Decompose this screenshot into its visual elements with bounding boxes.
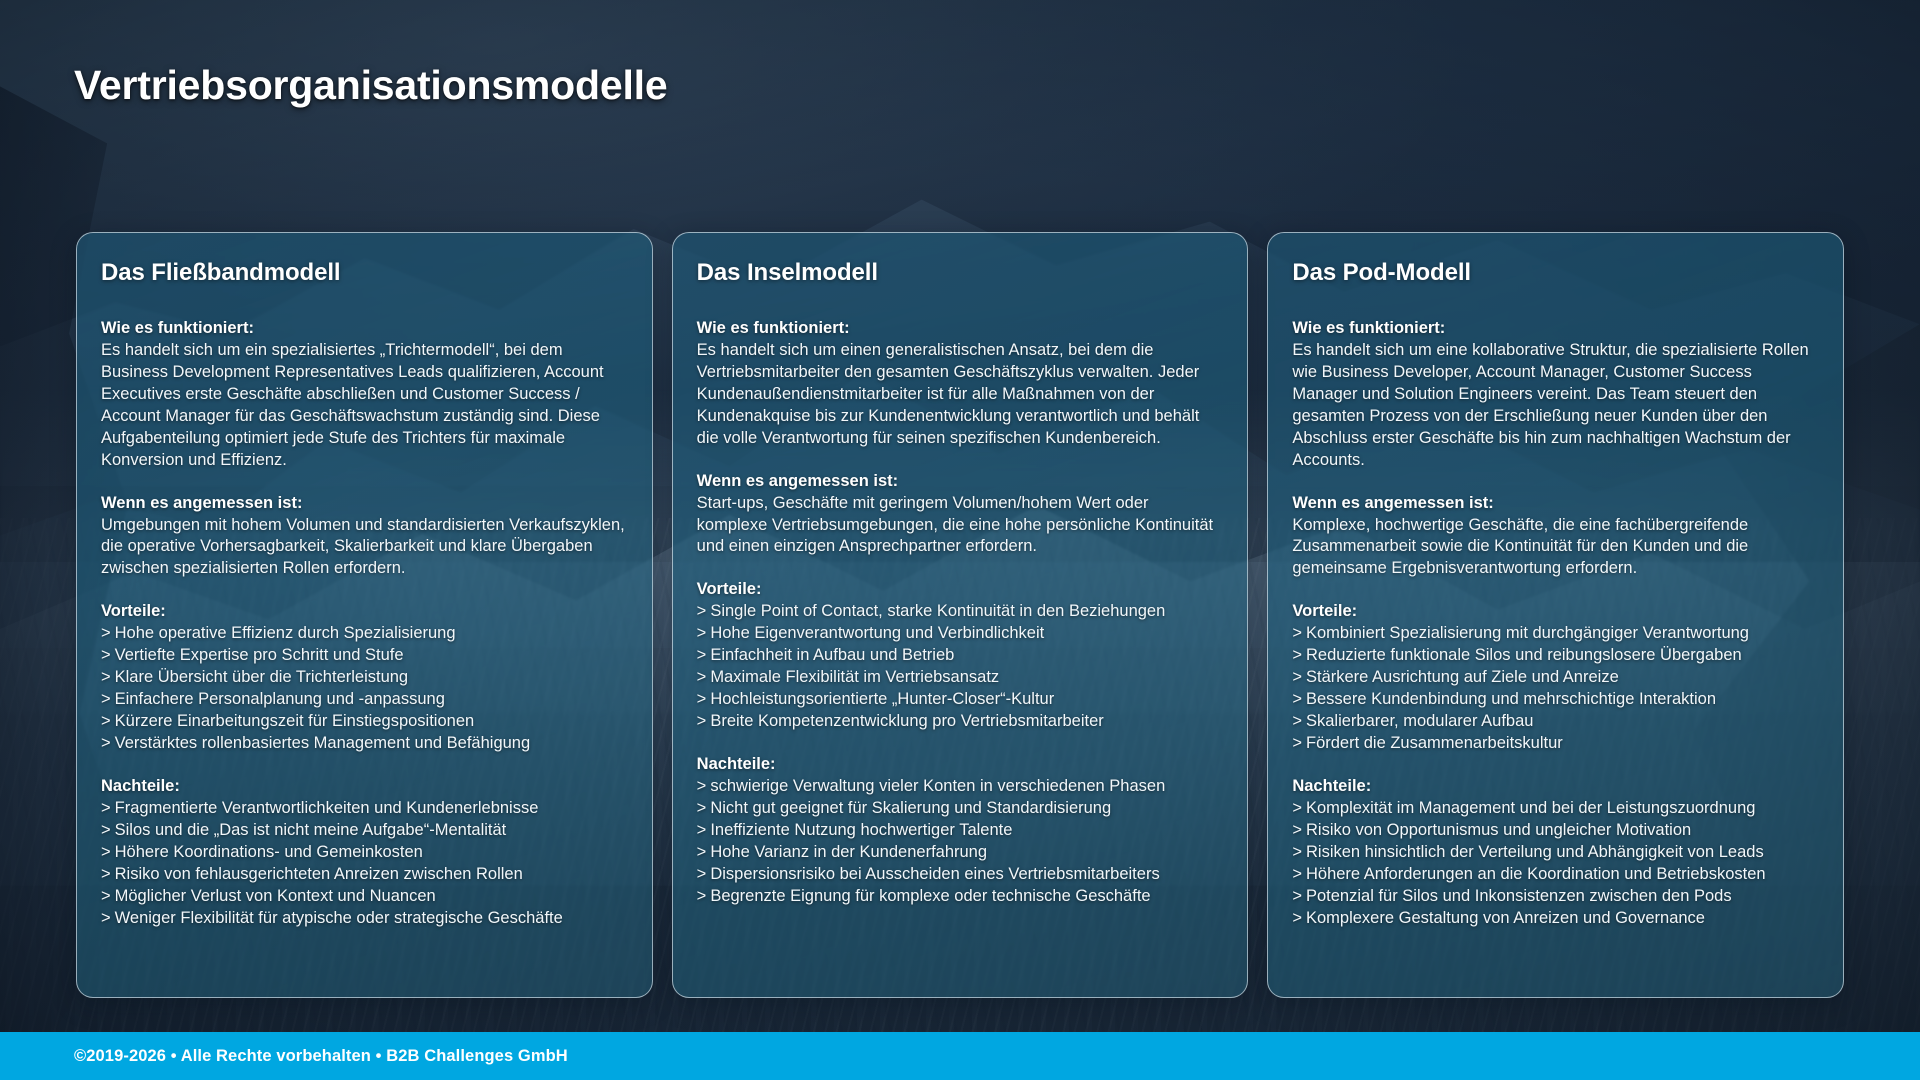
list-item-label: Hohe Eigenverantwortung und Verbindlichk… — [710, 624, 1044, 642]
list-item: >Bessere Kundenbindung und mehrschichtig… — [1292, 689, 1819, 711]
list-item-label: Einfachheit in Aufbau und Betrieb — [710, 646, 954, 664]
list-item-label: Risiko von fehlausgerichteten Anreizen z… — [115, 865, 523, 883]
list-item: >Kombiniert Spezialisierung mit durchgän… — [1292, 623, 1819, 645]
bullet-marker-icon: > — [101, 798, 111, 820]
slide-root: Vertriebsorganisationsmodelle Das Fließb… — [0, 0, 1920, 1080]
list-item: >Klare Übersicht über die Trichterleistu… — [101, 667, 628, 689]
card-section-pros: Vorteile: >Kombiniert Spezialisierung mi… — [1292, 601, 1819, 755]
card-section-when: Wenn es angemessen ist: Komplexe, hochwe… — [1292, 493, 1819, 581]
list-item-label: Hohe Varianz in der Kundenerfahrung — [710, 843, 987, 861]
bullet-marker-icon: > — [101, 886, 111, 908]
list-item-label: Höhere Koordinations- und Gemeinkosten — [115, 843, 423, 861]
footer-copyright: ©2019-2026 • Alle Rechte vorbehalten • B… — [74, 1047, 568, 1066]
card-section-pros: Vorteile: >Hohe operative Effizienz durc… — [101, 601, 628, 755]
cons-list: >schwierige Verwaltung vieler Konten in … — [697, 776, 1224, 908]
card-section-cons: Nachteile: >Fragmentierte Verantwortlich… — [101, 776, 628, 930]
card-section-when: Wenn es angemessen ist: Umgebungen mit h… — [101, 493, 628, 581]
bullet-marker-icon: > — [1292, 733, 1302, 755]
list-item: >Breite Kompetenzentwicklung pro Vertrie… — [697, 711, 1224, 733]
bullet-marker-icon: > — [697, 689, 707, 711]
list-item: >Risiko von fehlausgerichteten Anreizen … — [101, 864, 628, 886]
bullet-marker-icon: > — [101, 908, 111, 930]
section-label-when: Wenn es angemessen ist: — [697, 471, 1224, 493]
section-label-pros: Vorteile: — [697, 579, 1224, 601]
model-cards-container: Das Fließbandmodell Wie es funktioniert:… — [76, 232, 1844, 998]
section-text-how: Es handelt sich um einen generalistische… — [697, 340, 1224, 450]
list-item: >Stärkere Ausrichtung auf Ziele und Anre… — [1292, 667, 1819, 689]
card-section-cons: Nachteile: >Komplexität im Management un… — [1292, 776, 1819, 930]
card-section-cons: Nachteile: >schwierige Verwaltung vieler… — [697, 754, 1224, 908]
list-item: >Hohe operative Effizienz durch Speziali… — [101, 623, 628, 645]
bullet-marker-icon: > — [101, 667, 111, 689]
section-text-how: Es handelt sich um eine kollaborative St… — [1292, 340, 1819, 472]
list-item: >Verstärktes rollenbasiertes Management … — [101, 733, 628, 755]
list-item-label: Fragmentierte Verantwortlichkeiten und K… — [115, 799, 539, 817]
list-item: >schwierige Verwaltung vieler Konten in … — [697, 776, 1224, 798]
list-item-label: Bessere Kundenbindung und mehrschichtige… — [1306, 690, 1716, 708]
list-item: >Risiko von Opportunismus und ungleicher… — [1292, 820, 1819, 842]
list-item-label: schwierige Verwaltung vieler Konten in v… — [710, 777, 1165, 795]
list-item: >Nicht gut geeignet für Skalierung und S… — [697, 798, 1224, 820]
section-label-when: Wenn es angemessen ist: — [1292, 493, 1819, 515]
bullet-marker-icon: > — [697, 601, 707, 623]
cons-list: >Fragmentierte Verantwortlichkeiten und … — [101, 798, 628, 930]
bullet-marker-icon: > — [697, 776, 707, 798]
bullet-marker-icon: > — [101, 689, 111, 711]
list-item-label: Potenzial für Silos und Inkonsistenzen z… — [1306, 887, 1732, 905]
list-item-label: Reduzierte funktionale Silos und reibung… — [1306, 646, 1742, 664]
list-item-label: Verstärktes rollenbasiertes Management u… — [115, 734, 531, 752]
section-label-how: Wie es funktioniert: — [1292, 318, 1819, 340]
list-item-label: Kürzere Einarbeitungszeit für Einstiegsp… — [115, 712, 475, 730]
list-item-label: Nicht gut geeignet für Skalierung und St… — [710, 799, 1111, 817]
section-label-cons: Nachteile: — [101, 776, 628, 798]
list-item: >Höhere Anforderungen an die Koordinatio… — [1292, 864, 1819, 886]
section-text-when: Komplexe, hochwertige Geschäfte, die ein… — [1292, 515, 1819, 581]
list-item: >Fördert die Zusammenarbeitskultur — [1292, 733, 1819, 755]
bullet-marker-icon: > — [101, 820, 111, 842]
list-item-label: Vertiefte Expertise pro Schritt und Stuf… — [115, 646, 404, 664]
list-item-label: Hochleistungsorientierte „Hunter-Closer“… — [710, 690, 1054, 708]
section-text-when: Start-ups, Geschäfte mit geringem Volume… — [697, 493, 1224, 559]
card-pod-modell: Das Pod-Modell Wie es funktioniert: Es h… — [1267, 232, 1844, 998]
bullet-marker-icon: > — [101, 733, 111, 755]
card-title: Das Inselmodell — [697, 259, 1224, 287]
page-title: Vertriebsorganisationsmodelle — [74, 62, 667, 109]
list-item: >Potenzial für Silos und Inkonsistenzen … — [1292, 886, 1819, 908]
bullet-marker-icon: > — [697, 667, 707, 689]
bullet-marker-icon: > — [1292, 886, 1302, 908]
list-item: >Dispersionsrisiko bei Ausscheiden eines… — [697, 864, 1224, 886]
list-item-label: Ineffiziente Nutzung hochwertiger Talent… — [710, 821, 1012, 839]
list-item: >Hohe Eigenverantwortung und Verbindlich… — [697, 623, 1224, 645]
list-item-label: Begrenzte Eignung für komplexe oder tech… — [710, 887, 1150, 905]
bullet-marker-icon: > — [1292, 864, 1302, 886]
card-section-how: Wie es funktioniert: Es handelt sich um … — [1292, 318, 1819, 472]
cons-list: >Komplexität im Management und bei der L… — [1292, 798, 1819, 930]
bullet-marker-icon: > — [697, 711, 707, 733]
list-item-label: Silos und die „Das ist nicht meine Aufga… — [115, 821, 507, 839]
pros-list: >Single Point of Contact, starke Kontinu… — [697, 601, 1224, 733]
section-label-cons: Nachteile: — [697, 754, 1224, 776]
list-item: >Höhere Koordinations- und Gemeinkosten — [101, 842, 628, 864]
card-fliessbandmodell: Das Fließbandmodell Wie es funktioniert:… — [76, 232, 653, 998]
card-section-how: Wie es funktioniert: Es handelt sich um … — [697, 318, 1224, 450]
list-item-label: Risiko von Opportunismus und ungleicher … — [1306, 821, 1691, 839]
bullet-marker-icon: > — [101, 864, 111, 886]
bullet-marker-icon: > — [697, 798, 707, 820]
list-item-label: Komplexere Gestaltung von Anreizen und G… — [1306, 909, 1705, 927]
list-item-label: Fördert die Zusammenarbeitskultur — [1306, 734, 1563, 752]
bullet-marker-icon: > — [101, 623, 111, 645]
bullet-marker-icon: > — [1292, 842, 1302, 864]
footer-bar: ©2019-2026 • Alle Rechte vorbehalten • B… — [0, 1032, 1920, 1080]
list-item-label: Dispersionsrisiko bei Ausscheiden eines … — [710, 865, 1159, 883]
pros-list: >Kombiniert Spezialisierung mit durchgän… — [1292, 623, 1819, 755]
list-item: >Möglicher Verlust von Kontext und Nuanc… — [101, 886, 628, 908]
card-inselmodell: Das Inselmodell Wie es funktioniert: Es … — [672, 232, 1249, 998]
list-item: >Hochleistungsorientierte „Hunter-Closer… — [697, 689, 1224, 711]
section-label-pros: Vorteile: — [1292, 601, 1819, 623]
bullet-marker-icon: > — [697, 886, 707, 908]
list-item: >Reduzierte funktionale Silos und reibun… — [1292, 645, 1819, 667]
list-item-label: Maximale Flexibilität im Vertriebsansatz — [710, 668, 999, 686]
bullet-marker-icon: > — [697, 623, 707, 645]
bullet-marker-icon: > — [1292, 908, 1302, 930]
card-title: Das Pod-Modell — [1292, 259, 1819, 287]
list-item: >Skalierbarer, modularer Aufbau — [1292, 711, 1819, 733]
card-section-how: Wie es funktioniert: Es handelt sich um … — [101, 318, 628, 472]
bullet-marker-icon: > — [697, 645, 707, 667]
bullet-marker-icon: > — [1292, 820, 1302, 842]
section-label-how: Wie es funktioniert: — [101, 318, 628, 340]
list-item: >Fragmentierte Verantwortlichkeiten und … — [101, 798, 628, 820]
bullet-marker-icon: > — [697, 864, 707, 886]
list-item-label: Stärkere Ausrichtung auf Ziele und Anrei… — [1306, 668, 1619, 686]
list-item-label: Kombiniert Spezialisierung mit durchgäng… — [1306, 624, 1749, 642]
bullet-marker-icon: > — [101, 842, 111, 864]
list-item: >Komplexere Gestaltung von Anreizen und … — [1292, 908, 1819, 930]
list-item-label: Single Point of Contact, starke Kontinui… — [710, 602, 1165, 620]
section-label-cons: Nachteile: — [1292, 776, 1819, 798]
list-item: >Single Point of Contact, starke Kontinu… — [697, 601, 1224, 623]
list-item: >Weniger Flexibilität für atypische oder… — [101, 908, 628, 930]
list-item: >Ineffiziente Nutzung hochwertiger Talen… — [697, 820, 1224, 842]
list-item: >Komplexität im Management und bei der L… — [1292, 798, 1819, 820]
bullet-marker-icon: > — [697, 842, 707, 864]
card-section-when: Wenn es angemessen ist: Start-ups, Gesch… — [697, 471, 1224, 559]
bullet-marker-icon: > — [697, 820, 707, 842]
list-item: >Vertiefte Expertise pro Schritt und Stu… — [101, 645, 628, 667]
list-item: >Einfachheit in Aufbau und Betrieb — [697, 645, 1224, 667]
list-item-label: Klare Übersicht über die Trichterleistun… — [115, 668, 408, 686]
bullet-marker-icon: > — [101, 645, 111, 667]
list-item-label: Einfachere Personalplanung und -anpassun… — [115, 690, 445, 708]
section-label-how: Wie es funktioniert: — [697, 318, 1224, 340]
list-item-label: Risiken hinsichtlich der Verteilung und … — [1306, 843, 1764, 861]
list-item: >Silos und die „Das ist nicht meine Aufg… — [101, 820, 628, 842]
section-label-when: Wenn es angemessen ist: — [101, 493, 628, 515]
bullet-marker-icon: > — [101, 711, 111, 733]
section-label-pros: Vorteile: — [101, 601, 628, 623]
list-item-label: Möglicher Verlust von Kontext und Nuance… — [115, 887, 436, 905]
list-item-label: Höhere Anforderungen an die Koordination… — [1306, 865, 1766, 883]
list-item-label: Breite Kompetenzentwicklung pro Vertrieb… — [710, 712, 1103, 730]
list-item-label: Skalierbarer, modularer Aufbau — [1306, 712, 1533, 730]
list-item-label: Komplexität im Management und bei der Le… — [1306, 799, 1755, 817]
list-item: >Hohe Varianz in der Kundenerfahrung — [697, 842, 1224, 864]
list-item: >Risiken hinsichtlich der Verteilung und… — [1292, 842, 1819, 864]
bullet-marker-icon: > — [1292, 623, 1302, 645]
list-item: >Kürzere Einarbeitungszeit für Einstiegs… — [101, 711, 628, 733]
section-text-how: Es handelt sich um ein spezialisiertes „… — [101, 340, 628, 472]
bullet-marker-icon: > — [1292, 711, 1302, 733]
bullet-marker-icon: > — [1292, 689, 1302, 711]
list-item: >Maximale Flexibilität im Vertriebsansat… — [697, 667, 1224, 689]
bullet-marker-icon: > — [1292, 645, 1302, 667]
section-text-when: Umgebungen mit hohem Volumen und standar… — [101, 515, 628, 581]
bullet-marker-icon: > — [1292, 667, 1302, 689]
bullet-marker-icon: > — [1292, 798, 1302, 820]
card-title: Das Fließbandmodell — [101, 259, 628, 287]
pros-list: >Hohe operative Effizienz durch Speziali… — [101, 623, 628, 755]
list-item: >Begrenzte Eignung für komplexe oder tec… — [697, 886, 1224, 908]
card-section-pros: Vorteile: >Single Point of Contact, star… — [697, 579, 1224, 733]
list-item: >Einfachere Personalplanung und -anpassu… — [101, 689, 628, 711]
list-item-label: Weniger Flexibilität für atypische oder … — [115, 909, 563, 927]
list-item-label: Hohe operative Effizienz durch Spezialis… — [115, 624, 456, 642]
